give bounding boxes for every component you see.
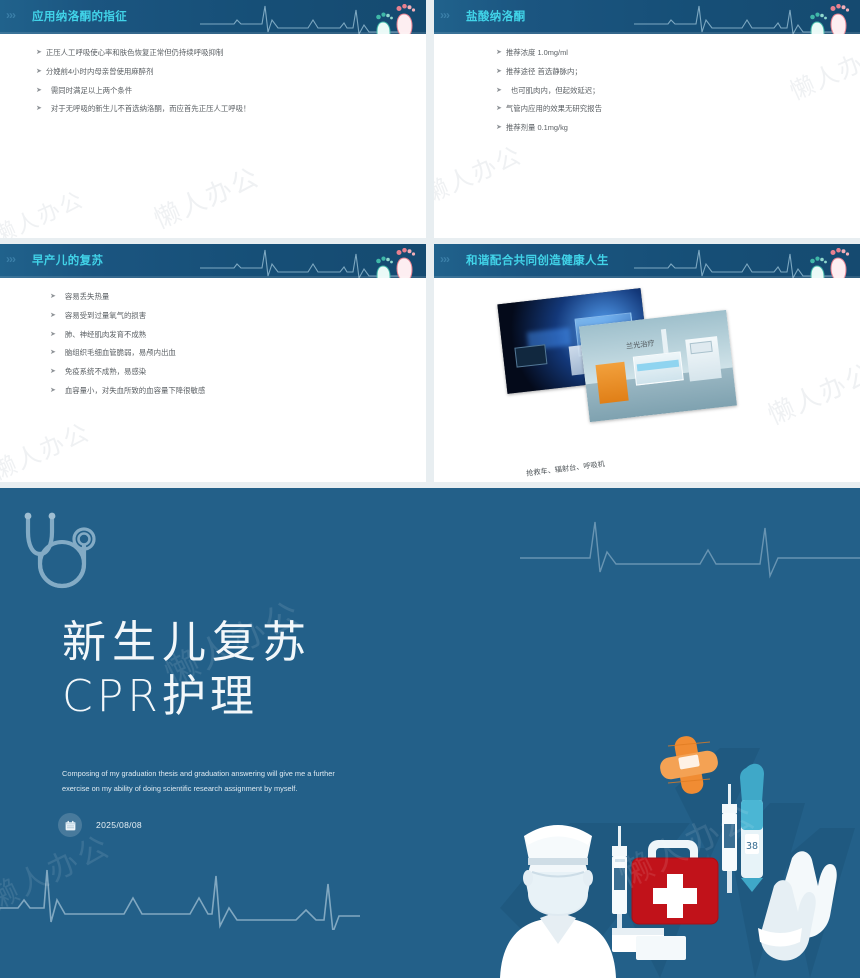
slide-header: ››› 盐酸纳洛酮 — [434, 0, 860, 34]
list-item: ➤气管内应用的效果无研究报告 — [496, 104, 844, 113]
bullet-marker: ➤ — [50, 367, 56, 376]
bullet-text: 脑组织毛细血管脆弱，易颅内出血 — [65, 348, 176, 357]
slide-header: ››› 早产儿的复苏 — [0, 244, 426, 278]
slide-thumbnail-harmony-health[interactable]: ››› 和谐配合共同创造健康人生 — [434, 244, 860, 482]
hero-title: 新生儿复苏 CPR护理 — [62, 616, 312, 723]
bullet-text: 需同时满足以上两个条件 — [51, 86, 132, 95]
hero-title-line2: CPR护理 — [62, 670, 312, 724]
slide-header: ››› 和谐配合共同创造健康人生 — [434, 244, 860, 278]
slide-title: 应用纳洛酮的指征 — [32, 8, 127, 24]
ecg-line-icon — [634, 246, 834, 278]
list-item: ➤分娩前4小时内母亲曾使用麻醉剂 — [36, 67, 410, 76]
bullet-text: 推荐途径 首选静脉内； — [506, 67, 582, 76]
bullet-marker: ➤ — [496, 104, 502, 113]
thermometer-icon: 38 — [740, 764, 764, 892]
bullet-text: 也可肌肉内，但起效延迟； — [511, 86, 600, 95]
bullet-marker: ➤ — [496, 123, 502, 132]
bullet-text: 推荐剂量 0.1mg/kg — [506, 123, 568, 132]
hero-subtitle: Composing of my graduation thesis and gr… — [62, 766, 362, 796]
slide-title: 盐酸纳洛酮 — [466, 8, 526, 24]
bullet-marker: ➤ — [496, 86, 502, 95]
chevron-right-icon: ››› — [6, 9, 15, 21]
bullet-text: 正压人工呼吸使心率和肤色恢复正常但仍持续呼吸抑制 — [46, 48, 223, 57]
list-item: ➤脑组织毛细血管脆弱，易颅内出血 — [50, 348, 410, 357]
bullet-marker: ➤ — [50, 292, 56, 301]
slide-header: ››› 应用纳洛酮的指征 — [0, 0, 426, 34]
bullet-marker: ➤ — [50, 348, 56, 357]
bullet-marker: ➤ — [50, 330, 56, 339]
bullet-text: 血容量小，对失血所致的血容量下降很敏感 — [65, 386, 205, 395]
list-item: ➤也可肌肉内，但起效延迟； — [496, 86, 844, 95]
bullet-text: 气管内应用的效果无研究报告 — [506, 104, 602, 113]
bullet-text: 容易受到过量氧气的损害 — [65, 311, 146, 320]
list-item: ➤容易丢失热量 — [50, 292, 410, 301]
ecg-line-icon — [200, 2, 400, 34]
list-item: ➤血容量小，对失血所致的血容量下降很敏感 — [50, 386, 410, 395]
bullet-marker: ➤ — [36, 67, 42, 76]
ecg-line-icon — [634, 2, 834, 34]
ecg-line-icon — [200, 246, 400, 278]
list-item: ➤免疫系统不成熟，易感染 — [50, 367, 410, 376]
bullet-marker: ➤ — [496, 67, 502, 76]
bullet-text: 分娩前4小时内母亲曾使用麻醉剂 — [46, 67, 154, 76]
list-item: ➤容易受到过量氧气的损害 — [50, 311, 410, 320]
svg-text:38: 38 — [746, 841, 758, 852]
slide-thumbnail-naloxone-indications[interactable]: ››› 应用纳洛酮的指征 — [0, 0, 426, 238]
bullet-marker: ➤ — [36, 104, 42, 113]
list-item: ➤推荐浓度 1.0mg/ml — [496, 48, 844, 57]
bullet-text: 免疫系统不成熟，易感染 — [65, 367, 146, 376]
chevron-right-icon: ››› — [440, 9, 449, 21]
bullet-list: ➤容易丢失热量 ➤容易受到过量氧气的损害 ➤肺、神经肌肉发育不成熟 ➤脑组织毛细… — [0, 278, 426, 482]
slide-title: 和谐配合共同创造健康人生 — [466, 252, 609, 268]
list-item: ➤正压人工呼吸使心率和肤色恢复正常但仍持续呼吸抑制 — [36, 48, 410, 57]
bullet-list: ➤推荐浓度 1.0mg/ml ➤推荐途径 首选静脉内； ➤也可肌肉内，但起效延迟… — [434, 34, 860, 238]
bullet-marker: ➤ — [50, 386, 56, 395]
list-item: ➤对于无呼吸的新生儿不首选纳洛酮，而应首先正压人工呼吸！ — [36, 104, 410, 113]
chevron-right-icon: ››› — [440, 253, 449, 265]
list-item: ➤需同时满足以上两个条件 — [36, 86, 410, 95]
ecg-line-icon — [0, 860, 450, 930]
chevron-right-icon: ››› — [6, 253, 15, 265]
bullet-marker: ➤ — [496, 48, 502, 57]
calendar-icon — [58, 813, 82, 837]
bullet-list: ➤正压人工呼吸使心率和肤色恢复正常但仍持续呼吸抑制 ➤分娩前4小时内母亲曾使用麻… — [0, 34, 426, 238]
list-item: ➤推荐剂量 0.1mg/kg — [496, 123, 844, 132]
bullet-text: 容易丢失热量 — [65, 292, 109, 301]
hero-title-line1: 新生儿复苏 — [62, 617, 312, 668]
list-item: ➤肺、神经肌肉发育不成熟 — [50, 330, 410, 339]
slide-thumbnail-grid: ››› 应用纳洛酮的指征 — [0, 0, 860, 488]
slide-thumbnail-preterm-resuscitation[interactable]: ››› 早产儿的复苏 ➤容易丢失热量 ➤容易受到过量氧气的损害 ➤肺、神经肌 — [0, 244, 426, 482]
bullet-marker: ➤ — [36, 86, 42, 95]
slide-title: 早产儿的复苏 — [32, 252, 103, 268]
stethoscope-icon — [8, 502, 118, 612]
photo-caption-equipment: 抢救车、辐射台、呼吸机 — [526, 459, 606, 479]
bullet-marker: ➤ — [50, 311, 56, 320]
photo-nicu-equipment — [579, 310, 737, 422]
hero-date: 2025/08/08 — [96, 820, 142, 830]
medical-illustration: 38 — [440, 728, 860, 978]
calendar-glyph — [64, 819, 77, 832]
bullet-marker: ➤ — [36, 48, 42, 57]
photo-group: 兰光治疗 抢救车、辐射台、呼吸机 — [434, 278, 860, 482]
hero-date-row: 2025/08/08 — [58, 813, 142, 837]
ecg-line-icon — [520, 508, 860, 588]
bullet-text: 推荐浓度 1.0mg/ml — [506, 48, 568, 57]
hero-title-slide[interactable]: 新生儿复苏 CPR护理 Composing of my graduation t… — [0, 488, 860, 978]
bullet-text: 肺、神经肌肉发育不成熟 — [65, 330, 146, 339]
slide-thumbnail-naloxone-hydrochloride[interactable]: ››› 盐酸纳洛酮 ➤推荐浓度 1.0mg/ml ➤推荐途径 首选静脉内； — [434, 0, 860, 238]
list-item: ➤推荐途径 首选静脉内； — [496, 67, 844, 76]
bullet-text: 对于无呼吸的新生儿不首选纳洛酮，而应首先正压人工呼吸！ — [51, 104, 251, 113]
